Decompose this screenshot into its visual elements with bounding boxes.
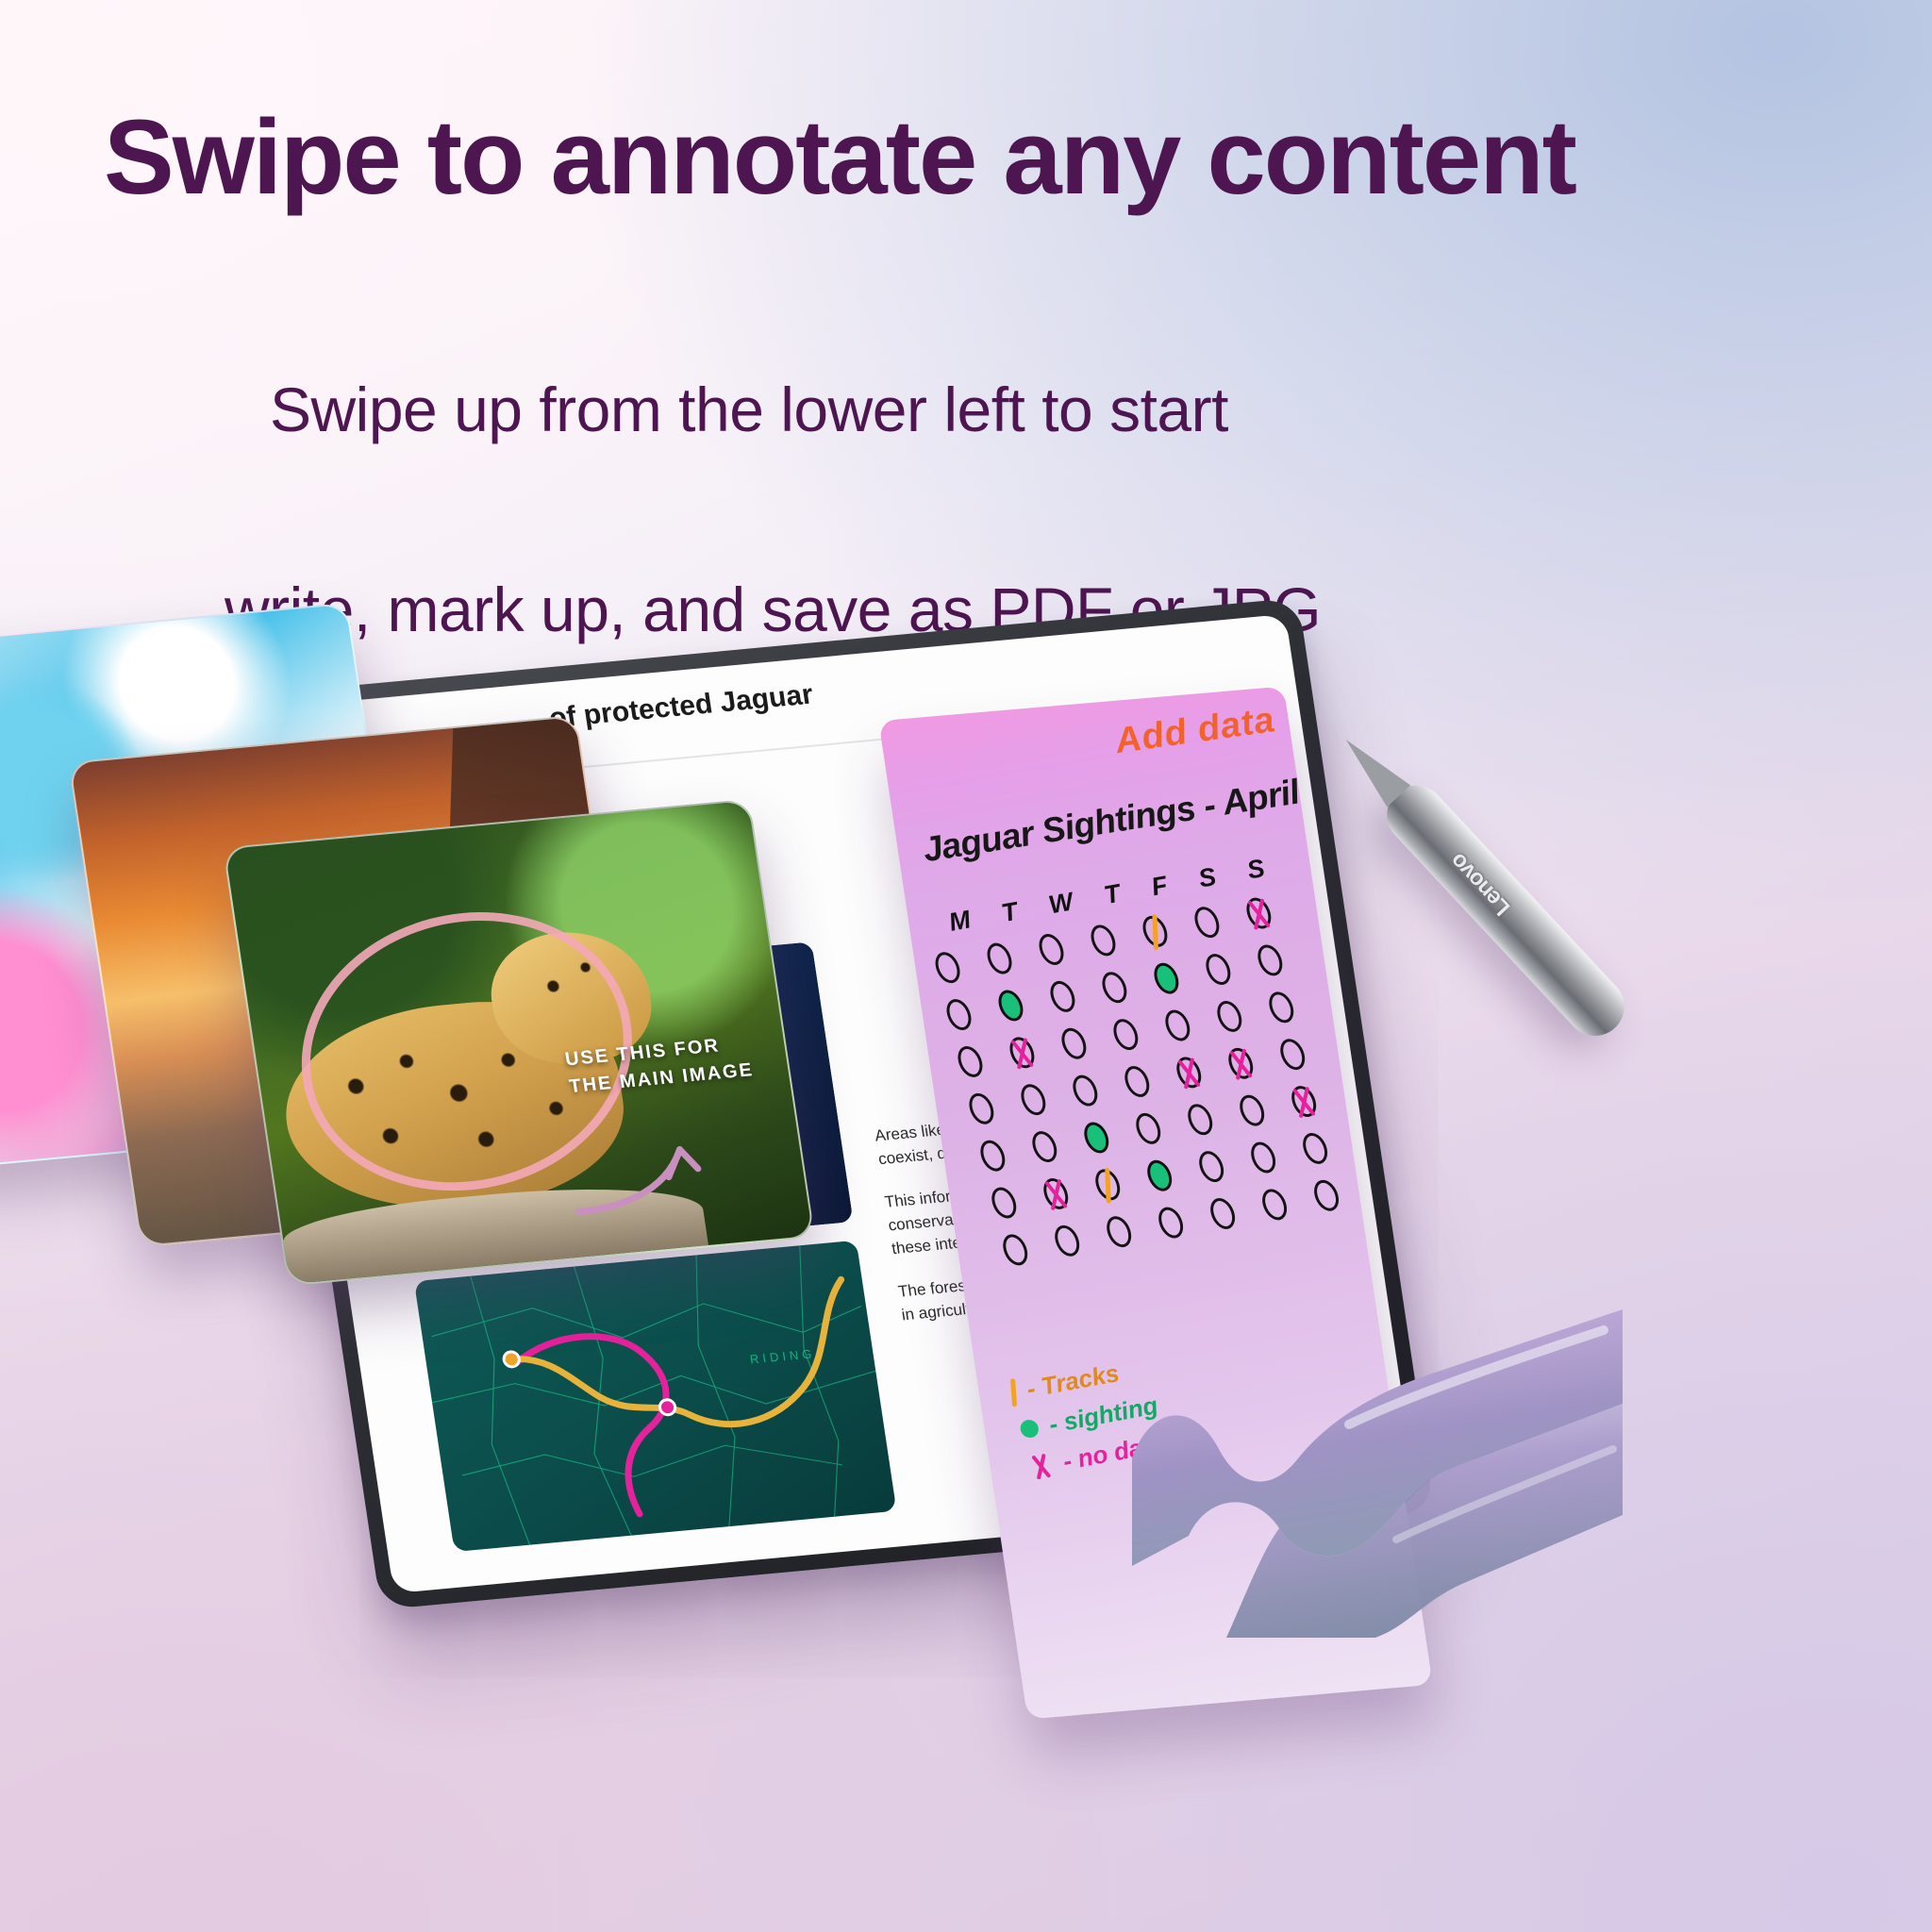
stand-svg — [1113, 1283, 1641, 1641]
arrow-annotation-icon — [563, 1119, 717, 1216]
route-map-tile[interactable]: RIDING — [414, 1241, 897, 1552]
page-title: Swipe to annotate any content — [104, 102, 1858, 213]
lenovo-brand-label: Lenovo — [1446, 848, 1517, 921]
grid-cell-empty[interactable] — [1250, 939, 1291, 981]
legend-label: - Tracks — [1024, 1358, 1123, 1404]
dow-label: S — [1195, 862, 1219, 893]
sighting-mark-icon — [1019, 1419, 1041, 1440]
grid-cell-empty[interactable] — [1295, 1127, 1336, 1170]
grid-cell-empty[interactable] — [1151, 1202, 1191, 1244]
grid-cell-empty[interactable] — [1209, 995, 1250, 1038]
grid-cell-empty[interactable] — [1117, 1060, 1158, 1103]
grid-cell-empty[interactable] — [1024, 1125, 1065, 1168]
dow-label: M — [946, 906, 974, 938]
grid-cell-empty[interactable] — [1013, 1078, 1054, 1121]
grid-cell-empty[interactable] — [1261, 986, 1302, 1028]
grid-cell-empty[interactable] — [1031, 928, 1072, 971]
grid-cell-empty[interactable] — [1106, 1013, 1146, 1056]
media-card-jaguar[interactable]: USE THIS FOR THE MAIN IMAGE — [223, 799, 815, 1287]
grid-cell-no-data[interactable] — [1239, 892, 1279, 935]
wave-stand-accessory — [1113, 1283, 1641, 1641]
stylus-pen[interactable]: Lenovo — [1374, 774, 1636, 1048]
grid-cell-empty[interactable] — [939, 993, 979, 1036]
grid-cell-empty[interactable] — [1128, 1108, 1169, 1150]
grid-cell-sighting[interactable] — [991, 984, 1031, 1026]
grid-cell-tracks[interactable] — [1135, 910, 1175, 953]
grid-cell-empty[interactable] — [1187, 901, 1227, 943]
grid-cell-empty[interactable] — [979, 938, 1020, 980]
sighting-grid[interactable] — [927, 892, 1349, 1282]
grid-cell-empty[interactable] — [1273, 1033, 1313, 1075]
grid-cell-empty[interactable] — [1191, 1145, 1232, 1188]
dow-label: T — [999, 897, 1021, 928]
grid-cell-empty[interactable] — [1042, 975, 1083, 1018]
grid-cell-tracks[interactable] — [1088, 1163, 1128, 1206]
grid-cell-no-data[interactable] — [1221, 1042, 1261, 1085]
grid-cell-empty[interactable] — [1203, 1192, 1243, 1235]
dow-label: T — [1101, 879, 1123, 910]
grid-cell-empty[interactable] — [995, 1228, 1036, 1271]
map-svg: RIDING — [414, 1241, 897, 1552]
grid-cell-no-data[interactable] — [1036, 1173, 1076, 1215]
grid-cell-empty[interactable] — [1307, 1174, 1347, 1217]
grid-cell-sighting[interactable] — [1146, 958, 1187, 1000]
dow-label: F — [1148, 871, 1170, 902]
grid-cell-no-data[interactable] — [1284, 1080, 1324, 1123]
grid-cell-empty[interactable] — [1094, 966, 1135, 1008]
note-title: Jaguar Sightings - April — [919, 773, 1303, 871]
grid-cell-empty[interactable] — [1054, 1023, 1094, 1065]
grid-cell-empty[interactable] — [961, 1088, 1002, 1130]
grid-cell-sighting[interactable] — [1076, 1116, 1117, 1158]
add-data-annotation[interactable]: Add data — [1112, 700, 1279, 762]
grid-cell-empty[interactable] — [1065, 1070, 1106, 1112]
grid-cell-empty[interactable] — [973, 1135, 1013, 1177]
grid-cell-empty[interactable] — [1083, 919, 1124, 961]
grid-cell-empty[interactable] — [1232, 1090, 1273, 1132]
grid-cell-no-data[interactable] — [1002, 1031, 1042, 1074]
grid-cell-empty[interactable] — [927, 946, 968, 989]
grid-cell-empty[interactable] — [1255, 1183, 1295, 1225]
grid-cell-empty[interactable] — [1180, 1098, 1221, 1141]
grid-cell-empty[interactable] — [984, 1182, 1024, 1224]
grid-cell-empty[interactable] — [1158, 1005, 1198, 1047]
svg-text:RIDING: RIDING — [749, 1346, 817, 1366]
no-data-mark-icon — [1027, 1451, 1056, 1481]
dow-label: S — [1244, 854, 1268, 885]
product-scene: of protected Jaguar — [0, 717, 1932, 1932]
grid-cell-empty[interactable] — [1198, 948, 1239, 991]
grid-cell-no-data[interactable] — [1169, 1051, 1209, 1093]
grid-cell-empty[interactable] — [1243, 1137, 1284, 1179]
dow-label: W — [1046, 888, 1076, 921]
subtitle-line-1: Swipe up from the lower left to start — [270, 374, 1228, 445]
grid-cell-empty[interactable] — [950, 1041, 991, 1083]
tracks-mark-icon — [1010, 1378, 1017, 1407]
grid-cell-empty[interactable] — [1047, 1220, 1088, 1262]
grid-cell-sighting[interactable] — [1140, 1155, 1180, 1197]
grid-cell-empty[interactable] — [1099, 1210, 1140, 1253]
